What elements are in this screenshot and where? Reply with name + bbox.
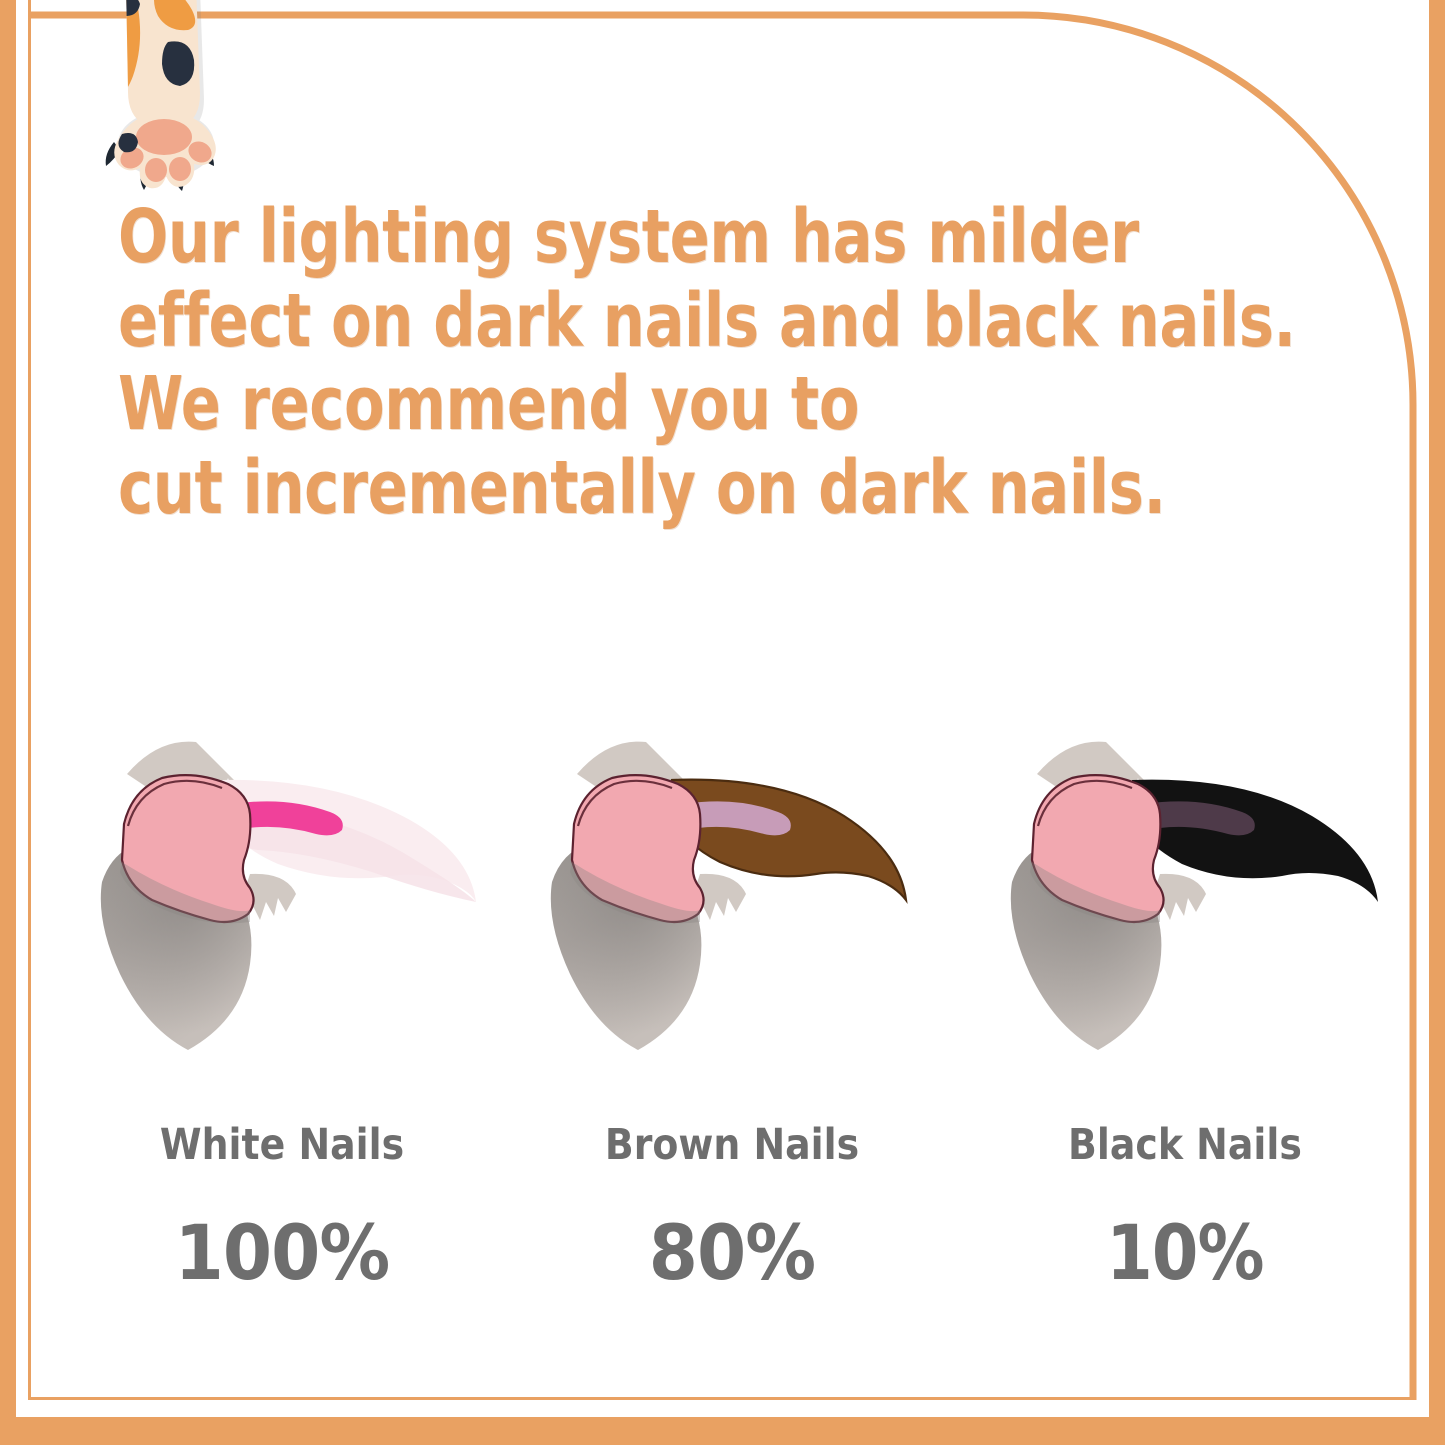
- nail-caption-black: Black Nails: [1000, 1120, 1370, 1170]
- paw-toe-bean-2: [145, 158, 167, 182]
- nail-percent-brown: 80%: [537, 1208, 928, 1297]
- nail-caption-white: White Nails: [97, 1120, 467, 1170]
- nail-comparison-row: White Nails 100%: [0, 712, 1445, 1332]
- nail-panel-white: White Nails 100%: [72, 712, 522, 1332]
- frame-inner-bottom-rule: [28, 1397, 1413, 1400]
- heading-line-3: We recommend you to: [118, 363, 1358, 447]
- heading-line-2: effect on dark nails and black nails.: [118, 280, 1358, 364]
- page-heading: Our lighting system has milder effect on…: [118, 196, 1358, 530]
- nail-panel-brown: Brown Nails 80%: [522, 712, 972, 1332]
- cat-claw-black-illustration: [982, 712, 1402, 1072]
- cat-claw-brown-illustration: [522, 712, 942, 1072]
- calico-cat-paw: [88, 0, 238, 194]
- nail-percent-black: 10%: [1000, 1208, 1370, 1297]
- paw-toe-bean-3: [169, 157, 191, 181]
- cat-claw-white-illustration: [72, 712, 492, 1072]
- heading-line-4: cut incrementally on dark nails.: [118, 447, 1358, 531]
- nail-panel-black: Black Nails 10%: [982, 712, 1432, 1332]
- nail-caption-brown: Brown Nails: [547, 1120, 917, 1170]
- nail-percent-white: 100%: [87, 1208, 478, 1297]
- heading-line-1: Our lighting system has milder: [118, 196, 1358, 280]
- paw-main-pad: [136, 119, 192, 155]
- frame-bottom-band: [0, 1417, 1445, 1445]
- infographic-canvas: Our lighting system has milder effect on…: [0, 0, 1445, 1445]
